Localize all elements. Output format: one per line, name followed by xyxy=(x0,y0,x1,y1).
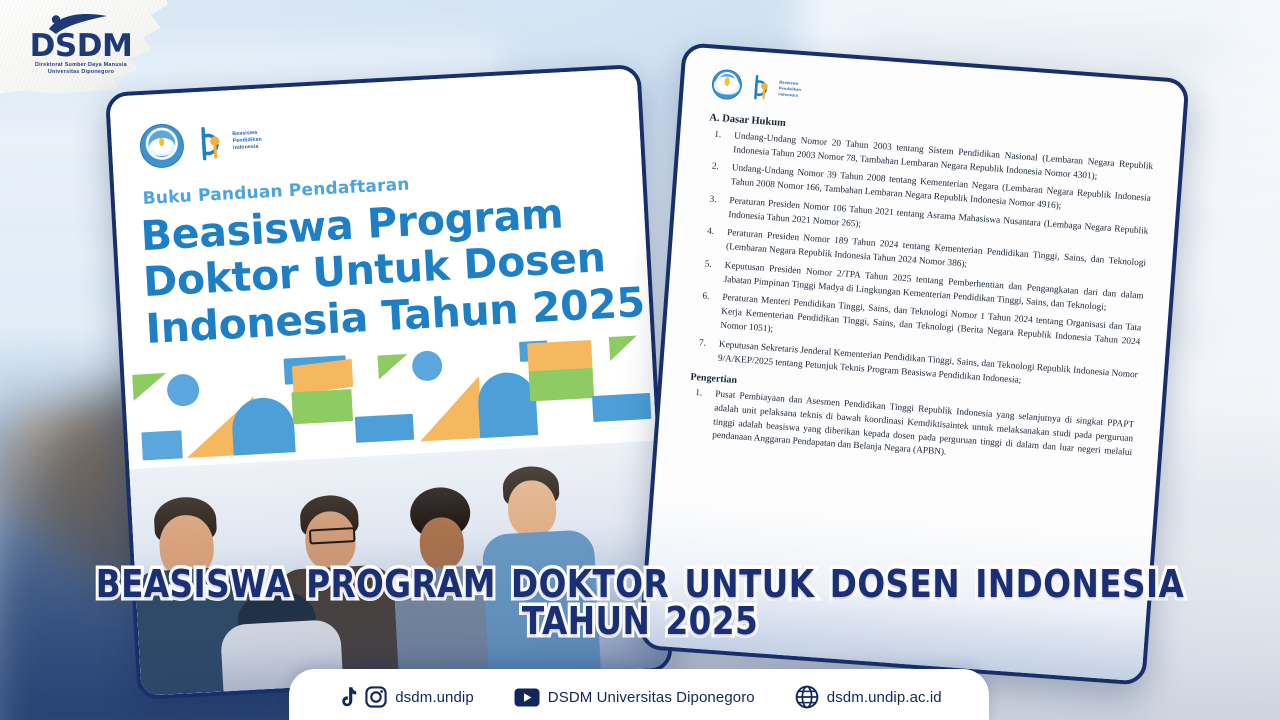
dsdm-subtitle-line2: Universitas Diponegoro xyxy=(17,69,145,75)
headline-word: DOKTOR xyxy=(509,566,670,603)
list-item-number: 4. xyxy=(707,226,715,240)
list-item-number: 6. xyxy=(702,291,710,305)
bpi-label-line3: Indonesia xyxy=(233,145,262,153)
headline-word: BEASISWA xyxy=(94,566,293,603)
poster-stage: DSDM Direktorat Sumber Daya Manusia Univ… xyxy=(0,0,1280,720)
social-footer-bar: dsdm.undip DSDM Universitas Diponegoro xyxy=(289,669,989,720)
social-handle-label[interactable]: dsdm.undip xyxy=(395,689,474,706)
tiktok-icon[interactable] xyxy=(336,686,357,709)
headline-word: INDONESIA xyxy=(974,566,1186,603)
bpi-mark-icon xyxy=(197,125,229,161)
dsdm-wordmark: DSDM xyxy=(17,31,145,62)
headline-word: 2025 xyxy=(664,603,760,640)
headline-word: TAHUN xyxy=(520,603,652,640)
social-group-website[interactable]: dsdm.undip.ac.id xyxy=(795,685,942,709)
list-item-number: 1. xyxy=(695,387,703,401)
headline-line-1: BEASISWA PROGRAM DOKTOR UNTUK DOSEN INDO… xyxy=(90,566,1191,603)
dsdm-subtitle-line1: Direktorat Sumber Daya Manusia xyxy=(17,62,145,68)
list-item-number: 7. xyxy=(698,337,706,351)
dsdm-logo: DSDM Direktorat Sumber Daya Manusia Univ… xyxy=(17,13,145,75)
poster-headline: BEASISWA PROGRAM DOKTOR UNTUK DOSEN INDO… xyxy=(90,566,1191,640)
bpi-mark-icon xyxy=(751,74,775,101)
bpi-label-line3: Indonesia xyxy=(778,92,801,98)
instagram-icon[interactable] xyxy=(365,686,387,708)
document-body: A. Dasar Hukum 1. Undang-Undang Nomor 20… xyxy=(686,112,1155,474)
social-group-youtube[interactable]: DSDM Universitas Diponegoro xyxy=(514,688,755,707)
tut-wuri-handayani-icon xyxy=(139,123,185,169)
youtube-icon[interactable] xyxy=(514,688,540,707)
cover-title: Beasiswa Program Doktor Untuk Dosen Indo… xyxy=(115,182,650,353)
beasiswa-pendidikan-indonesia-logo: Beasiswa Pendidikan Indonesia xyxy=(751,74,802,103)
legal-basis-list: 1. Undang-Undang Nomor 20 Tahun 2003 ten… xyxy=(691,128,1153,397)
list-item-number: 2. xyxy=(711,161,719,175)
social-group-tiktok-instagram[interactable]: dsdm.undip xyxy=(336,686,474,709)
list-item-number: 3. xyxy=(709,194,717,208)
tut-wuri-handayani-icon xyxy=(711,68,743,100)
globe-icon[interactable] xyxy=(795,685,819,709)
headline-word: DOSEN xyxy=(828,566,962,603)
list-item-number: 1. xyxy=(714,129,722,143)
social-handle-label[interactable]: dsdm.undip.ac.id xyxy=(827,689,942,706)
headline-word: UNTUK xyxy=(683,566,817,603)
headline-word: PROGRAM xyxy=(304,566,497,603)
headline-line-2: TAHUN 2025 xyxy=(90,603,1191,640)
social-handle-label[interactable]: DSDM Universitas Diponegoro xyxy=(548,689,755,706)
list-item-number: 5. xyxy=(704,258,712,272)
beasiswa-pendidikan-indonesia-logo: Beasiswa Pendidikan Indonesia xyxy=(197,124,263,161)
